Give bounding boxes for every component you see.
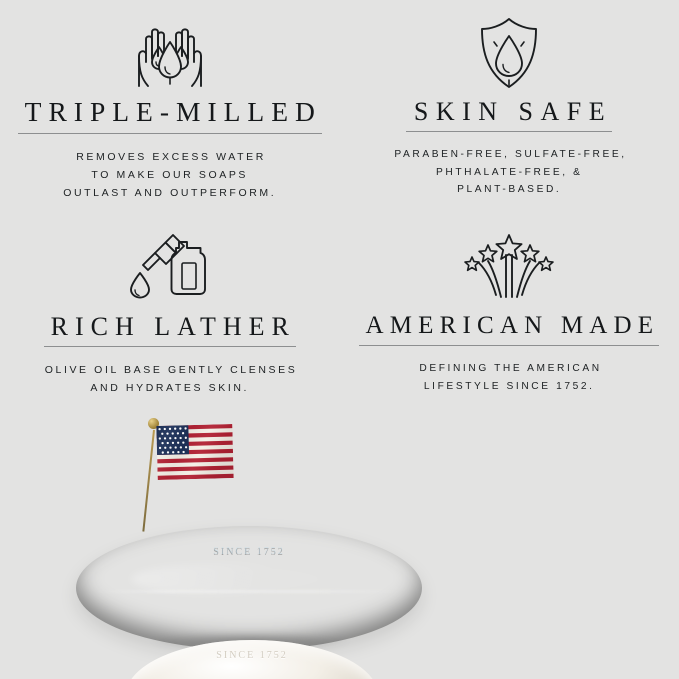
feature-title: AMERICAN MADE: [359, 313, 659, 346]
feature-triple-milled: TRIPLE-MILLED REMOVES EXCESS WATER TO MA…: [0, 0, 340, 215]
feature-title: TRIPLE-MILLED: [18, 98, 322, 134]
feature-american-made: AMERICAN MADE DEFINING THE AMERICAN LIFE…: [340, 215, 679, 430]
soap-emboss-text: SINCE 1752: [76, 546, 422, 557]
flag-pole: [142, 430, 154, 532]
american-flag-on-stick: [156, 424, 233, 480]
feature-subtitle: PARABEN-FREE, SULFATE-FREE, PHTHALATE-FR…: [392, 146, 627, 199]
feature-subtitle: DEFINING THE AMERICAN LIFESTYLE SINCE 17…: [417, 360, 602, 395]
white-soap-bar: SINCE 1752: [126, 640, 378, 679]
shield-with-water-drop-icon: [474, 14, 544, 92]
feature-rich-lather: RICH LATHER OLIVE OIL BASE GENTLY CLENSE…: [0, 215, 340, 430]
white-soap-emboss-text: SINCE 1752: [126, 650, 378, 661]
firework-stars-icon: [463, 229, 555, 307]
feature-skin-safe: SKIN SAFE PARABEN-FREE, SULFATE-FREE, PH…: [340, 0, 679, 215]
feature-title: RICH LATHER: [44, 313, 296, 347]
feature-grid: TRIPLE-MILLED REMOVES EXCESS WATER TO MA…: [0, 0, 679, 430]
product-photo: SINCE 1752 SINCE 1752: [0, 404, 679, 679]
feature-subtitle: OLIVE OIL BASE GENTLY CLENSES AND HYDRAT…: [42, 361, 297, 397]
blue-soap-bar: SINCE 1752: [76, 526, 422, 650]
feature-subtitle: REMOVES EXCESS WATER TO MAKE OUR SOAPS O…: [63, 148, 276, 202]
product-feature-infographic: TRIPLE-MILLED REMOVES EXCESS WATER TO MA…: [0, 0, 679, 679]
hands-with-water-drops-icon: [128, 14, 212, 92]
soap-seam: [90, 590, 408, 593]
feature-title: SKIN SAFE: [406, 98, 612, 132]
dropper-and-bottle-icon: [122, 229, 218, 307]
